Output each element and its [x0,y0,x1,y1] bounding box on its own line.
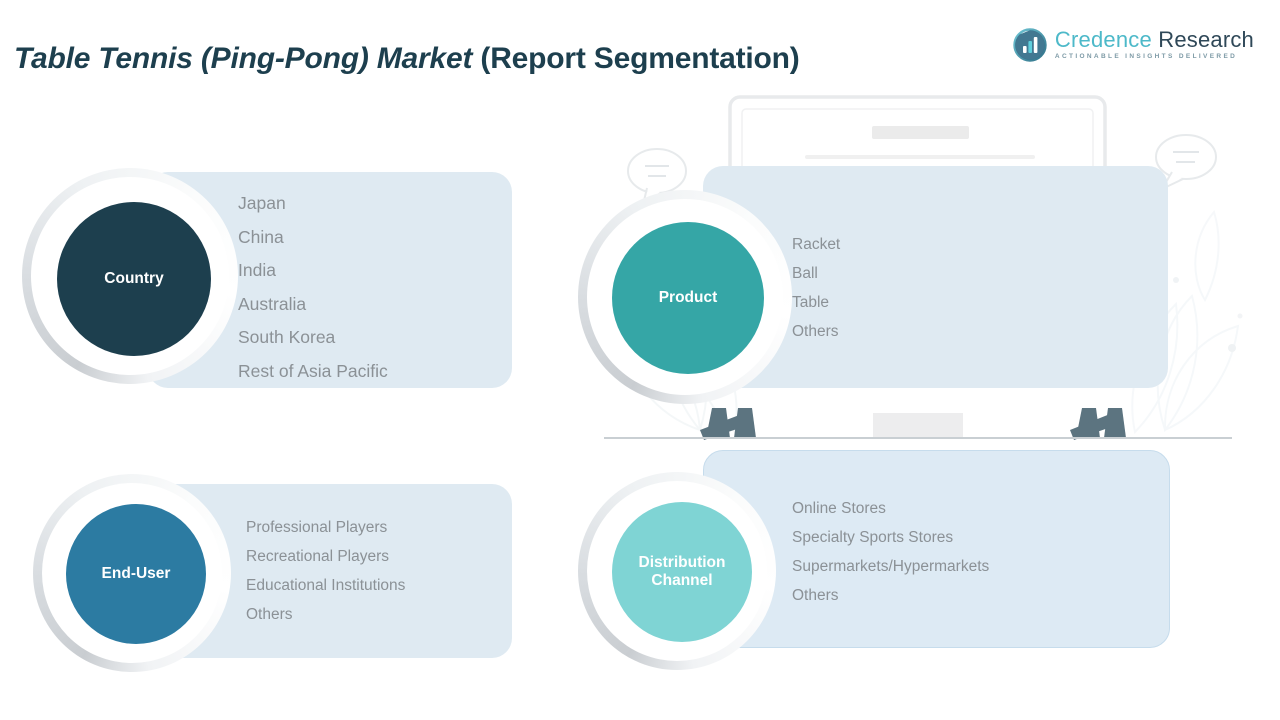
segment-bubble-label: End-User [102,565,171,583]
list-item: Educational Institutions [246,577,405,595]
dot-icon [1173,277,1179,283]
list-item: Rest of Asia Pacific [238,361,388,382]
list-item: Recreational Players [246,548,405,566]
list-item: China [238,227,388,248]
list-item: Ball [792,265,840,283]
segment-item-list-product: Racket Ball Table Others [792,236,840,352]
logo-text-block: Credence Research Actionable Insights De… [1055,29,1254,61]
list-item: Professional Players [246,519,405,537]
bar-chart-circle-icon [1013,28,1047,62]
list-item: Table [792,294,840,312]
list-item: Online Stores [792,500,989,518]
dot-icon [1238,314,1243,319]
list-item: Japan [238,193,388,214]
logo-word-research: Research [1152,27,1254,52]
list-item: Others [246,606,405,624]
page-title: Table Tennis (Ping-Pong) Market (Report … [14,42,800,76]
list-item: Australia [238,294,388,315]
segment-item-list-country: Japan China India Australia South Korea … [238,193,388,394]
segment-bubble-end-user[interactable]: End-User [66,504,206,644]
list-item: Others [792,323,840,341]
list-item: South Korea [238,327,388,348]
header: Table Tennis (Ping-Pong) Market (Report … [0,0,1280,88]
page-title-secondary: (Report Segmentation) [480,42,799,75]
logo-wordmark: Credence Research [1055,29,1254,51]
segment-item-list-end-user: Professional Players Recreational Player… [246,519,405,635]
brand-logo[interactable]: Credence Research Actionable Insights De… [1013,24,1254,66]
segment-bubble-label: Distribution Channel [639,554,726,591]
logo-word-credence: Credence [1055,27,1152,52]
segment-bubble-label: Product [659,289,718,307]
segment-bubble-distribution-channel[interactable]: Distribution Channel [612,502,752,642]
logo-tagline: Actionable Insights Delivered [1055,54,1254,61]
list-item: Specialty Sports Stores [792,529,989,547]
segment-bubble-product[interactable]: Product [612,222,764,374]
segment-bubble-country[interactable]: Country [57,202,211,356]
person-legs-icon [700,408,1126,440]
segment-item-list-distribution-channel: Online Stores Specialty Sports Stores Su… [792,500,989,616]
list-item: Racket [792,236,840,254]
list-item: Others [792,587,989,605]
page-title-primary: Table Tennis (Ping-Pong) Market [14,42,480,75]
segment-bubble-label: Country [104,270,163,288]
list-item: Supermarkets/Hypermarkets [792,558,989,576]
infographic-canvas: Table Tennis (Ping-Pong) Market (Report … [0,0,1280,720]
list-item: India [238,260,388,281]
desk-block-icon [873,413,963,439]
dot-icon [1228,344,1236,352]
